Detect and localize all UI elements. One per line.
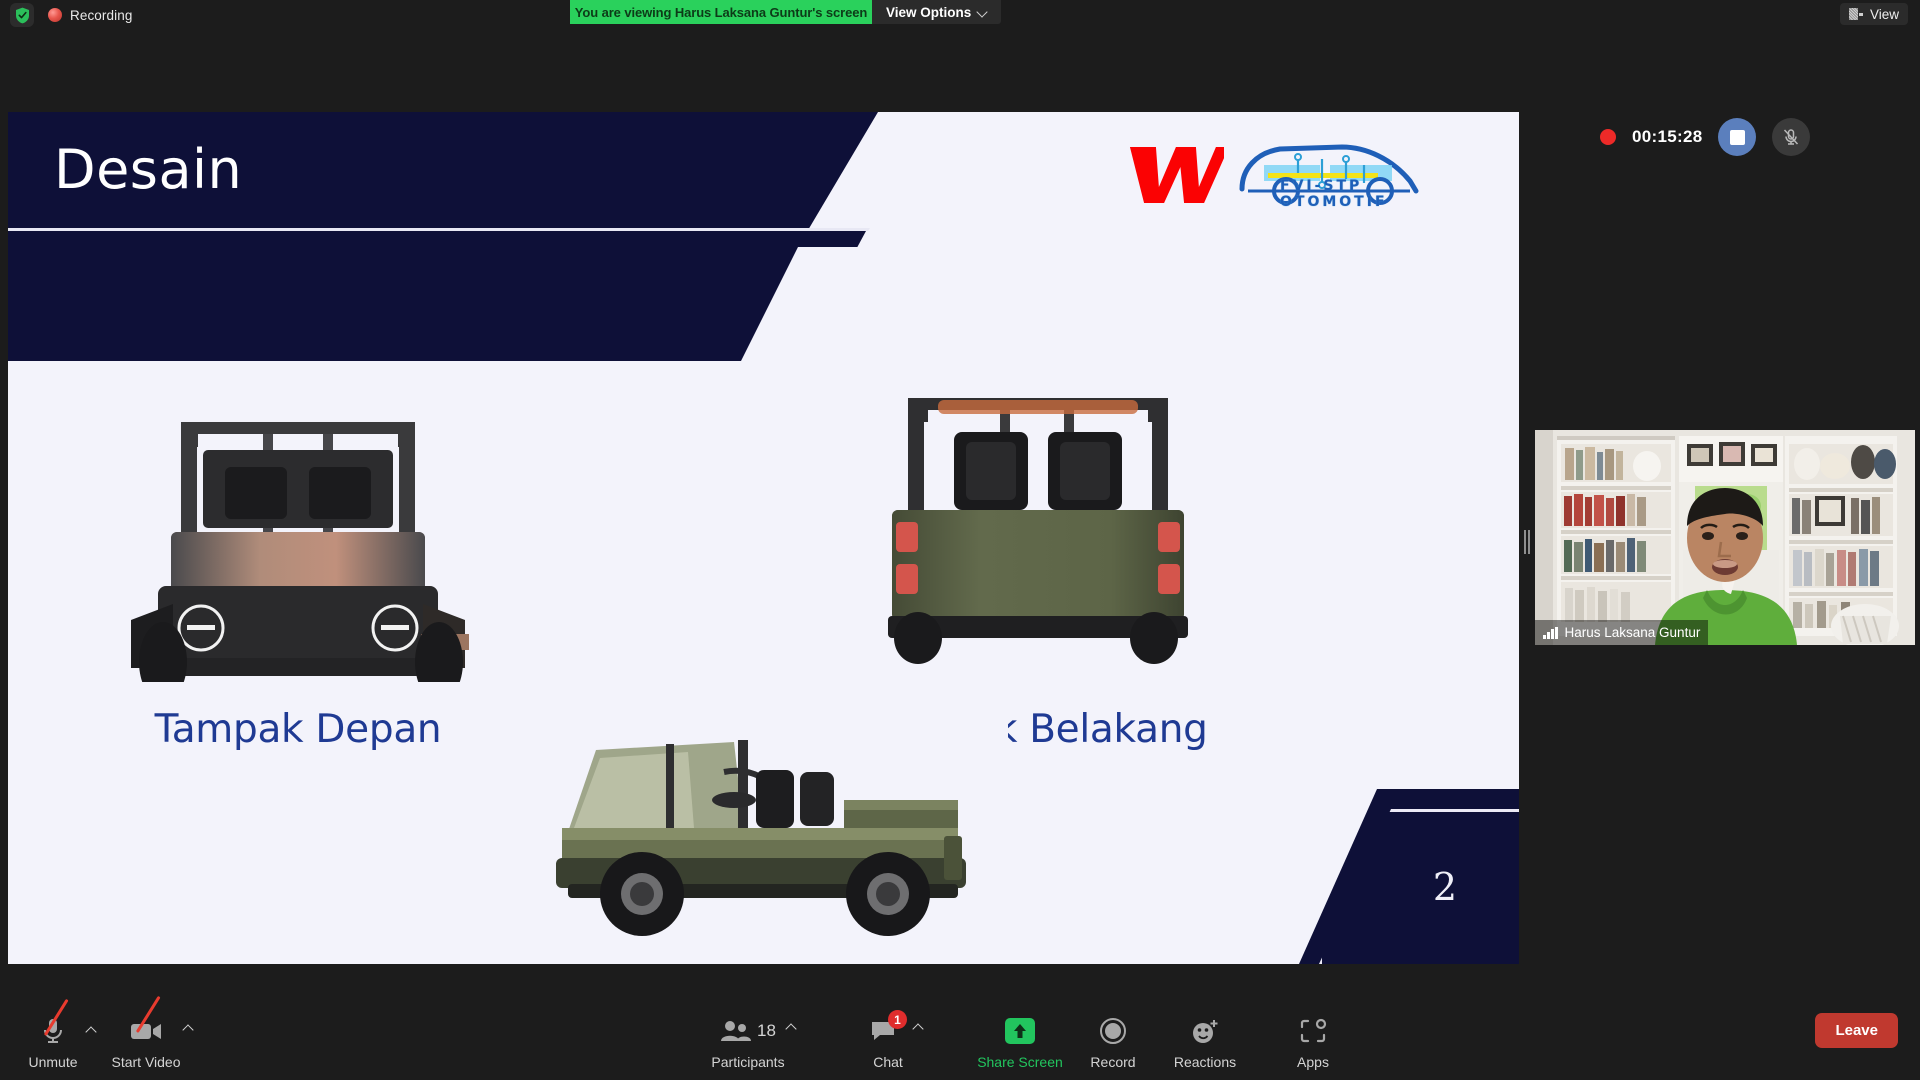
meeting-toolbar: Unmute Start Video 18 Participants <box>0 972 1920 1080</box>
toolbar-label: Chat <box>873 1054 903 1070</box>
view-options-label: View Options <box>886 5 971 20</box>
chevron-up-icon[interactable] <box>786 1021 798 1033</box>
layout-view-icon <box>1849 8 1863 20</box>
presentation-slide: Desain <box>8 112 1519 964</box>
logo-text: FVI-STP OTOMOTIF <box>1280 178 1424 210</box>
record-dot-icon <box>1600 129 1616 145</box>
participants-count: 18 <box>757 1021 776 1041</box>
participant-name-badge: Harus Laksana Guntur <box>1535 620 1708 645</box>
toolbar-item-chat[interactable]: 1 Chat <box>840 1012 936 1070</box>
shield-check-icon[interactable] <box>10 3 34 27</box>
signal-bars-icon <box>1543 627 1558 639</box>
red-w-logo <box>1119 141 1224 209</box>
toolbar-item-participants[interactable]: 18 Participants <box>700 1012 796 1070</box>
microphone-muted-icon[interactable] <box>1772 118 1810 156</box>
slide-header-band-lower <box>8 231 868 361</box>
car-rear-view-render <box>848 370 1228 670</box>
view-layout-button[interactable]: View <box>1840 3 1908 25</box>
toolbar-item-reactions[interactable]: Reactions <box>1145 1012 1265 1070</box>
recording-indicator[interactable]: Recording <box>48 8 132 23</box>
view-button-label: View <box>1870 7 1899 22</box>
share-screen-icon <box>1005 1012 1035 1050</box>
participant-name: Harus Laksana Guntur <box>1565 625 1701 640</box>
record-circle-icon <box>1099 1012 1127 1050</box>
recording-elapsed-time: 00:15:28 <box>1632 127 1702 147</box>
leave-meeting-button[interactable]: Leave <box>1815 1013 1898 1048</box>
organization-logo: FVI-STP OTOMOTIF <box>1119 134 1419 216</box>
panel-resize-handle[interactable] <box>1524 530 1530 554</box>
car-front-view-render <box>103 372 493 682</box>
chat-unread-badge: 1 <box>888 1010 907 1029</box>
slide-title: Desain <box>54 138 242 201</box>
microphone-muted-icon <box>40 1012 66 1050</box>
chat-bubble-icon: 1 <box>865 1012 911 1050</box>
toolbar-item-unmute[interactable]: Unmute <box>5 1012 101 1070</box>
top-bar-left-group: Recording <box>10 3 132 27</box>
participants-icon: 18 <box>720 1012 776 1050</box>
toolbar-label: Start Video <box>111 1054 180 1070</box>
video-off-icon <box>129 1012 163 1050</box>
toolbar-label: Participants <box>711 1054 784 1070</box>
recording-controls: 00:15:28 <box>1600 118 1810 156</box>
top-bar: Recording You are viewing Harus Laksana … <box>0 0 1920 28</box>
chevron-up-icon[interactable] <box>913 1021 925 1033</box>
shared-screen-stage[interactable]: Desain <box>8 112 1519 964</box>
stop-recording-button[interactable] <box>1718 118 1756 156</box>
chevron-down-icon <box>978 8 987 17</box>
toolbar-label: Record <box>1090 1054 1135 1070</box>
toolbar-label: Share Screen <box>977 1054 1063 1070</box>
blue-circuit-car-icon: FVI-STP OTOMOTIF <box>1234 139 1424 211</box>
apps-bracket-icon <box>1299 1012 1327 1050</box>
car-side-view-render <box>538 682 1008 964</box>
chevron-up-icon[interactable] <box>86 1024 98 1036</box>
participant-video-tile[interactable]: Harus Laksana Guntur <box>1535 430 1915 645</box>
recording-label: Recording <box>70 8 132 23</box>
viewing-screen-banner: You are viewing Harus Laksana Guntur's s… <box>570 0 872 24</box>
reactions-smiley-icon <box>1190 1012 1220 1050</box>
view-options-button[interactable]: View Options <box>872 0 1001 24</box>
caption-front-view: Tampak Depan <box>103 707 493 752</box>
toolbar-item-apps[interactable]: Apps <box>1265 1012 1361 1070</box>
recording-dot-icon <box>48 8 62 22</box>
toolbar-label: Unmute <box>28 1054 77 1070</box>
chevron-up-icon[interactable] <box>183 1022 195 1034</box>
toolbar-label: Apps <box>1297 1054 1329 1070</box>
toolbar-label: Reactions <box>1174 1054 1236 1070</box>
slide-number: 2 <box>1433 865 1457 909</box>
slide-header-rule <box>8 228 870 231</box>
toolbar-item-start-video[interactable]: Start Video <box>98 1012 194 1070</box>
